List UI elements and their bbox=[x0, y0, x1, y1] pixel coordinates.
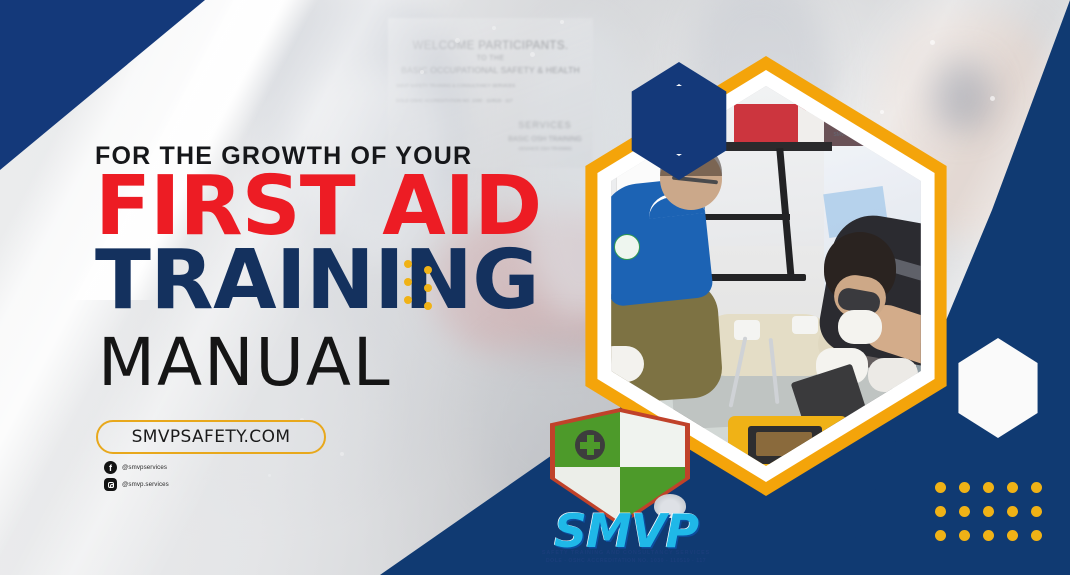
grid-dot bbox=[1031, 482, 1042, 493]
grid-dot bbox=[959, 530, 970, 541]
photo-trainee-glove bbox=[838, 310, 882, 344]
grid-dot bbox=[983, 506, 994, 517]
grid-dot bbox=[983, 482, 994, 493]
gold-dot-grid bbox=[935, 482, 1055, 554]
title-line-training: TRAINING bbox=[95, 240, 539, 322]
instagram-icon bbox=[104, 478, 117, 491]
instagram-handle: @smvp.services bbox=[122, 481, 169, 488]
grid-dot bbox=[1007, 530, 1018, 541]
title-line-manual: MANUAL bbox=[98, 330, 392, 396]
grid-dot bbox=[983, 530, 994, 541]
grid-dot bbox=[935, 482, 946, 493]
grid-dot bbox=[959, 482, 970, 493]
social-row-instagram[interactable]: @smvp.services bbox=[104, 478, 169, 491]
smvp-logo: SMVP SAFETY TRAINING AND CONSULTANCY SER… bbox=[528, 408, 724, 568]
logo-tagline-line-2: DOLE - OSHC ACCREDITATION NO. 1030 - 110… bbox=[528, 558, 724, 564]
first-aid-training-banner: WELCOME PARTICIPANTS. TO THE BASIC OCCUP… bbox=[0, 0, 1070, 575]
website-cta-button[interactable]: SMVPSAFETY.COM bbox=[96, 420, 326, 454]
grid-dot bbox=[935, 530, 946, 541]
photo-aed-pad bbox=[792, 316, 818, 334]
facebook-handle: @smvpservices bbox=[122, 464, 167, 471]
facebook-icon: f bbox=[104, 461, 117, 474]
gold-letter-dots bbox=[404, 260, 438, 312]
grid-dot bbox=[959, 506, 970, 517]
grid-dot bbox=[1007, 506, 1018, 517]
logo-tagline-line-1: SAFETY TRAINING AND CONSULTANCY SERVICES bbox=[528, 550, 724, 556]
social-row-facebook[interactable]: f @smvpservices bbox=[104, 461, 169, 474]
grid-dot bbox=[935, 506, 946, 517]
grid-dot bbox=[1031, 506, 1042, 517]
grid-dot bbox=[1031, 530, 1042, 541]
social-links: f @smvpservices @smvp.services bbox=[104, 461, 169, 495]
medical-cross-icon bbox=[575, 430, 605, 460]
grid-dot bbox=[1007, 482, 1018, 493]
photo-instructor-badge bbox=[614, 234, 640, 260]
